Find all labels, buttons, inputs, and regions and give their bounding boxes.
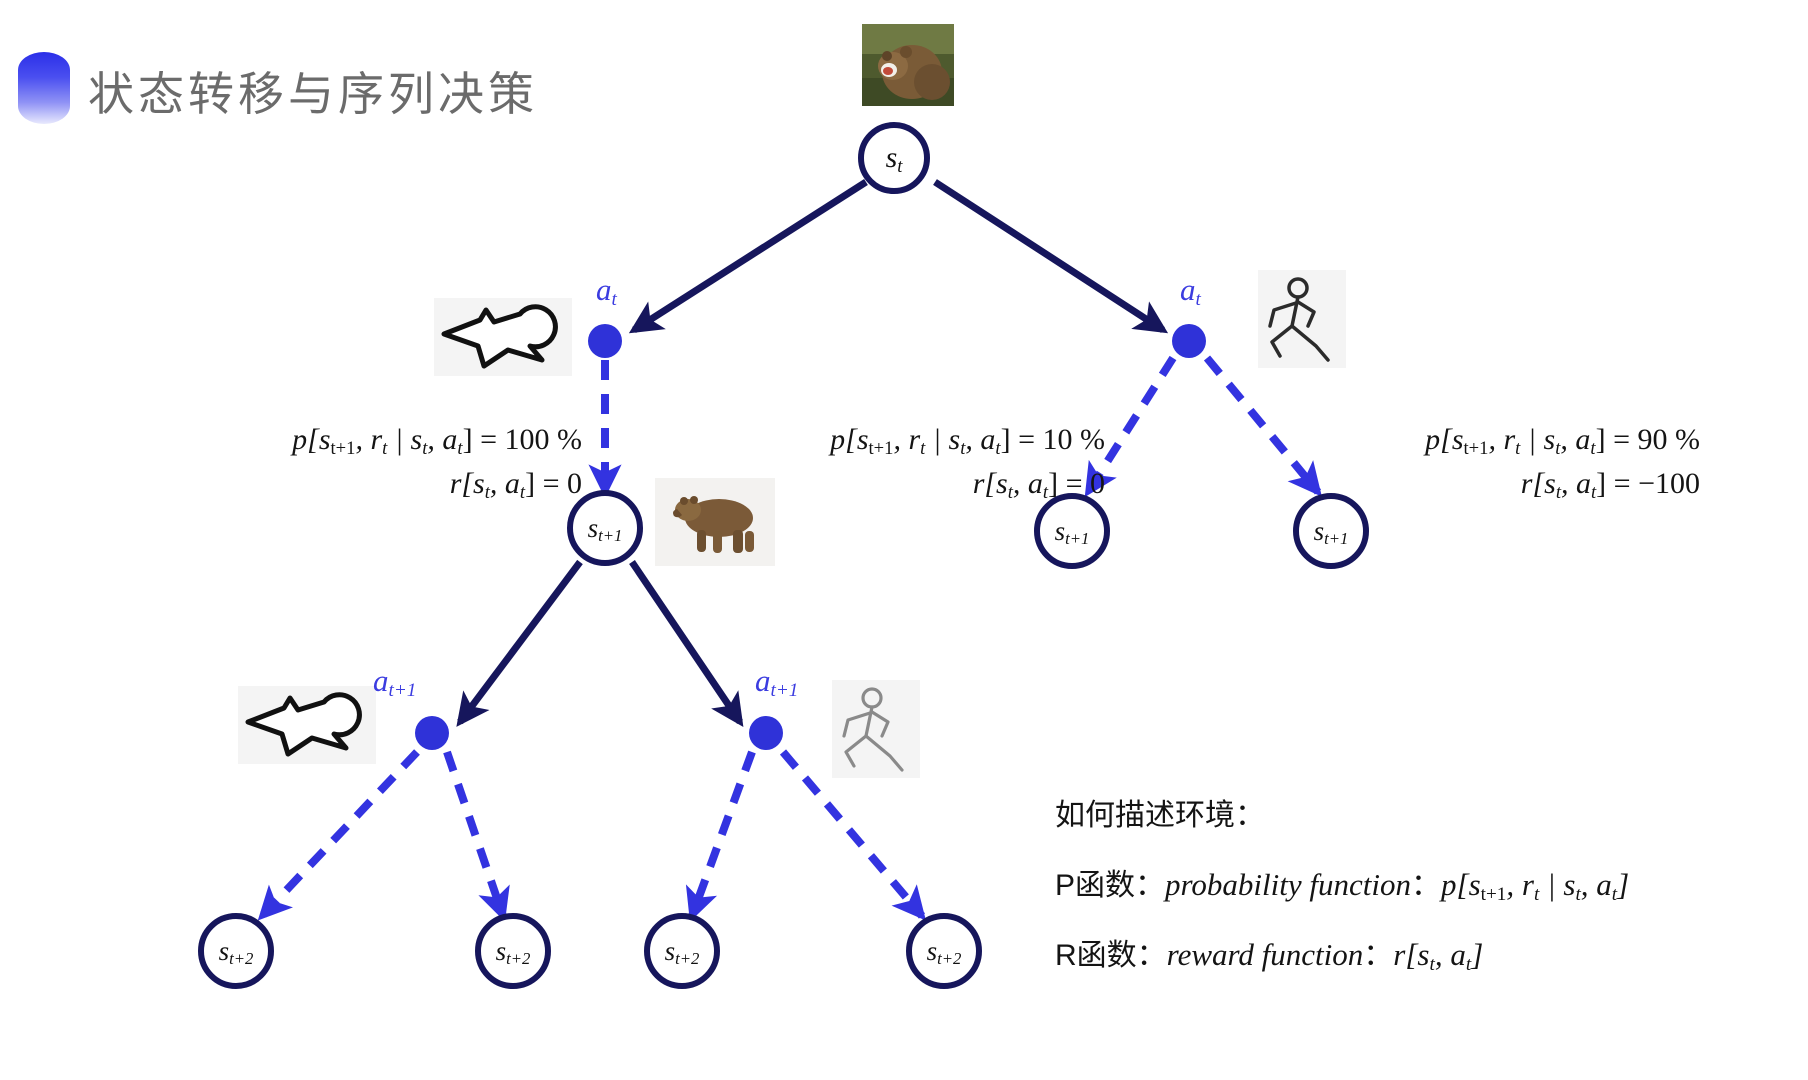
formula-probability-middle: p[st+1, rt | st, at] = 10 % <box>745 418 1105 462</box>
action-label-t1-left: at+1 <box>373 663 416 699</box>
edge-action-t1-left-to-state-1 <box>262 752 417 916</box>
state-node-t2-2[interactable]: st+2 <box>475 913 551 989</box>
state-node-root[interactable]: st <box>858 122 930 194</box>
legend-row-r-function: R函数：reward function：r[st, at] <box>1055 930 1629 974</box>
action-node-t1-right[interactable] <box>749 716 783 750</box>
running-person-icon <box>1258 270 1346 368</box>
running-person-icon <box>832 680 920 778</box>
state-node-label: st+2 <box>219 938 254 965</box>
state-node-t2-1[interactable]: st+2 <box>198 913 274 989</box>
slide-canvas: 状态转移与序列决策 <box>0 0 1808 1080</box>
state-node-t2-3[interactable]: st+2 <box>644 913 720 989</box>
formula-block-right: p[st+1, rt | st, at] = 90 % r[st, at] = … <box>1300 418 1700 505</box>
edge-action-t1-right-to-state-3 <box>692 752 752 916</box>
edge-action-t1-left-to-state-2 <box>447 752 503 916</box>
formula-reward-left: r[st, at] = 0 <box>216 462 582 506</box>
legend-heading: 如何描述环境： <box>1055 790 1629 834</box>
roaring-bear-photo <box>862 24 954 106</box>
header-decoration-icon <box>18 52 70 124</box>
edge-root-to-action-right <box>935 182 1163 330</box>
formula-reward-middle: r[st, at] = 0 <box>745 462 1105 506</box>
action-node-t-right[interactable] <box>1172 324 1206 358</box>
formula-probability-right: p[st+1, rt | st, at] = 90 % <box>1300 418 1700 462</box>
state-node-label: st+1 <box>588 515 623 542</box>
action-label-t-right: at <box>1180 272 1201 308</box>
state-node-t2-4[interactable]: st+2 <box>906 913 982 989</box>
environment-description-legend: 如何描述环境： P函数：probability function：p[st+1,… <box>1055 790 1629 1000</box>
formula-probability-left: p[st+1, rt | st, at] = 100 % <box>216 418 582 462</box>
action-label-t1-right: at+1 <box>755 663 798 699</box>
edge-state-to-action-right <box>632 562 740 722</box>
formula-reward-right: r[st, at] = −100 <box>1300 462 1700 506</box>
sleeping-bear-outline-icon <box>238 686 376 764</box>
action-node-t1-left[interactable] <box>415 716 449 750</box>
state-node-label: st+1 <box>1055 518 1090 545</box>
state-node-label: st+2 <box>665 938 700 965</box>
formula-block-middle: p[st+1, rt | st, at] = 10 % r[st, at] = … <box>745 418 1105 505</box>
action-label-t-left: at <box>596 272 617 308</box>
sleeping-bear-outline-icon <box>434 298 572 376</box>
state-node-label: st+1 <box>1314 518 1349 545</box>
edge-root-to-action-left <box>634 182 866 330</box>
page-title: 状态转移与序列决策 <box>88 58 538 124</box>
edge-state-to-action-left <box>460 562 580 722</box>
formula-block-left: p[st+1, rt | st, at] = 100 % r[st, at] =… <box>216 418 582 505</box>
state-node-label: st+2 <box>496 938 531 965</box>
legend-row-p-function: P函数：probability function：p[st+1, rt | st… <box>1055 860 1629 904</box>
state-node-label: st <box>886 143 903 173</box>
action-node-t-left[interactable] <box>588 324 622 358</box>
state-node-label: st+2 <box>927 938 962 965</box>
